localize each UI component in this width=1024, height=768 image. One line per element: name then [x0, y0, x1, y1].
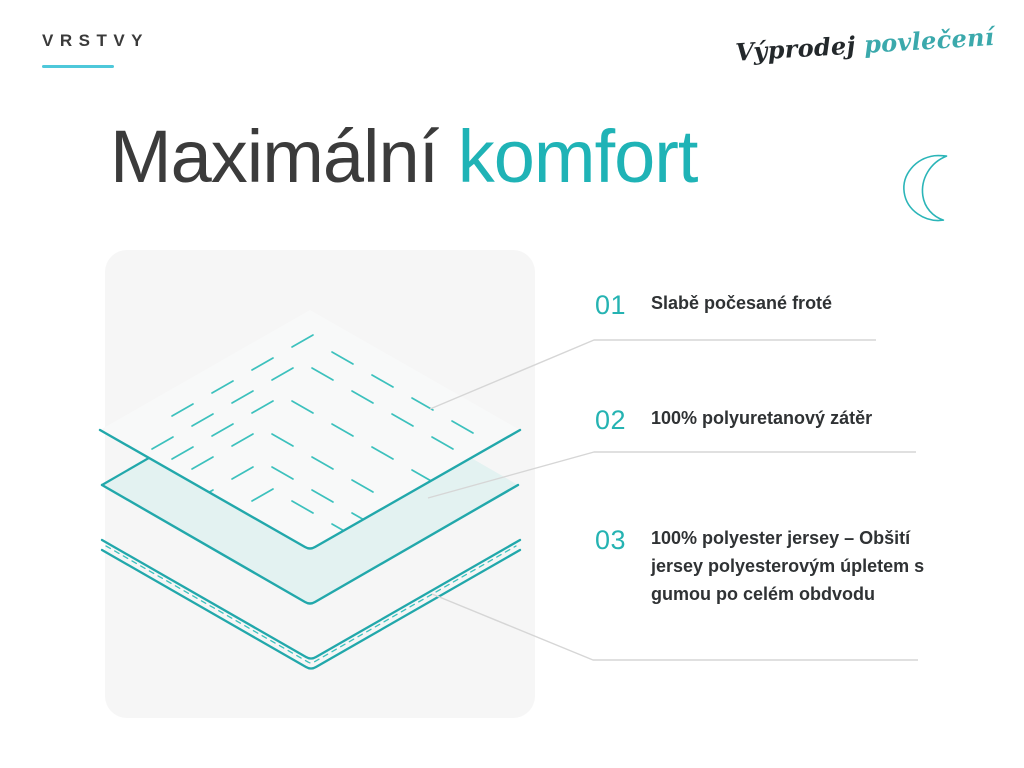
layer-number: 03 [595, 525, 651, 555]
infographic-stage: VRSTVY Výprodej povlečení Maximální komf… [0, 0, 1024, 768]
crescent-moon-icon [898, 152, 972, 226]
layer-number: 02 [595, 405, 651, 435]
campaign-tagline: Výprodej povlečení [734, 22, 994, 67]
list-item[interactable]: 03 100% polyester jersey – Obšití jersey… [595, 525, 951, 609]
layer-description: 100% polyester jersey – Obšití jersey po… [651, 525, 951, 609]
title-dark: Maximální [110, 115, 438, 198]
tagline-teal: povlečení [863, 22, 995, 59]
brand-underline [42, 65, 114, 68]
list-item[interactable]: 02 100% polyuretanový zátěr [595, 405, 872, 435]
page-title: Maximální komfort [110, 120, 697, 194]
title-teal: komfort [458, 115, 698, 198]
fabric-layers-diagram [80, 240, 600, 730]
tagline-dark: Výprodej [734, 31, 856, 67]
layer-number: 01 [595, 290, 651, 320]
brand-logo: VRSTVY [42, 32, 149, 68]
layer-description: Slabě počesané froté [651, 290, 832, 318]
brand-name: VRSTVY [42, 32, 149, 49]
layer-description: 100% polyuretanový zátěr [651, 405, 872, 433]
list-item[interactable]: 01 Slabě počesané froté [595, 290, 832, 320]
